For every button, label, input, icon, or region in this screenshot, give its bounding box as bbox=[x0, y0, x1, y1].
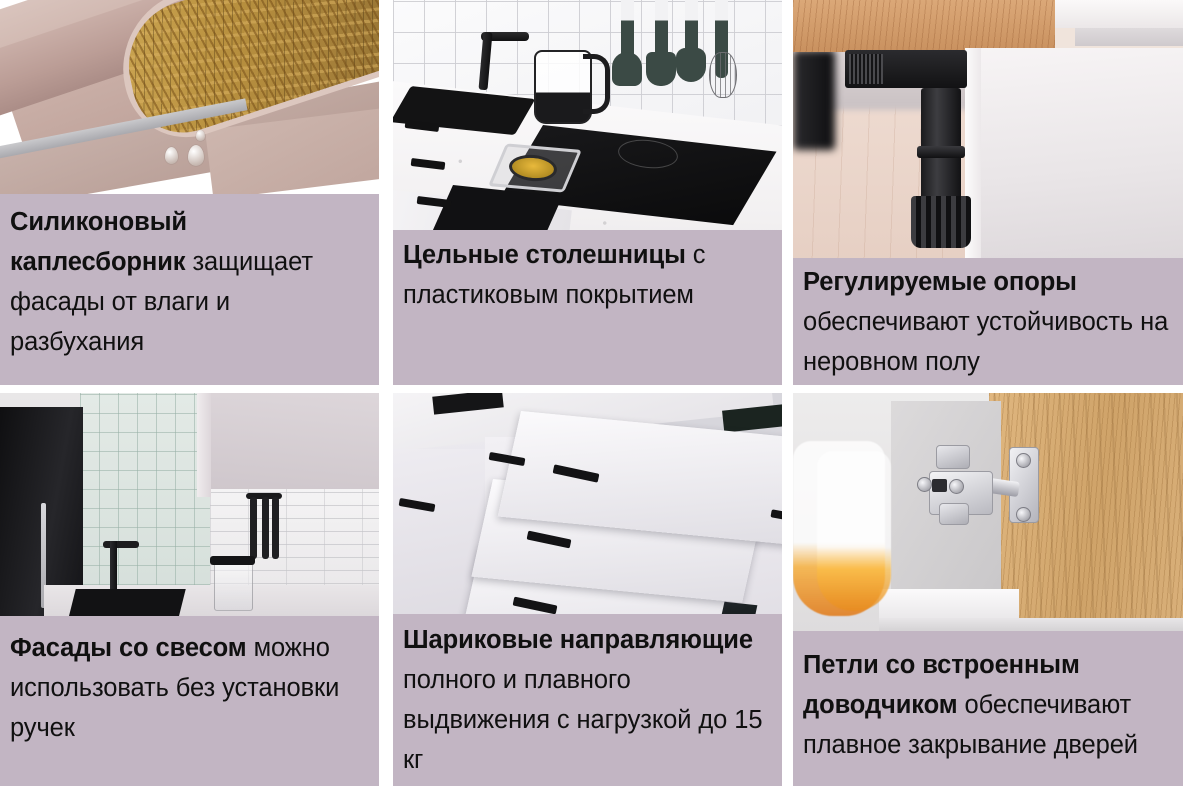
caption-bold-text: Регулируемые опоры bbox=[803, 268, 1077, 296]
feature-card-soft-close-hinges: Петли со встроенным доводчиком обеспечив… bbox=[793, 393, 1183, 786]
caption-bold-text: Шариковые направляющие bbox=[403, 626, 753, 654]
feature-grid: Силиконовый каплесборник защищает фасады… bbox=[0, 0, 1183, 786]
caption-overhang-fronts: Фасады со свесом можно использовать без … bbox=[0, 616, 379, 786]
caption-bold-text: Цельные столешницы bbox=[403, 241, 686, 269]
caption-adjustable-feet: Регулируемые опоры обеспечивают устойчив… bbox=[793, 258, 1183, 385]
caption-silicone-drip-collector: Силиконовый каплесборник защищает фасады… bbox=[0, 194, 379, 385]
caption-solid-countertops: Цельные столешницы с пластиковым покрыти… bbox=[393, 230, 782, 385]
feature-card-silicone-drip-collector: Силиконовый каплесборник защищает фасады… bbox=[0, 0, 379, 385]
feature-card-adjustable-feet: Регулируемые опоры обеспечивают устойчив… bbox=[793, 0, 1183, 385]
caption-soft-close-hinges: Петли со встроенным доводчиком обеспечив… bbox=[793, 631, 1183, 786]
feature-card-solid-countertops: Цельные столешницы с пластиковым покрыти… bbox=[393, 0, 782, 385]
feature-card-overhang-fronts: Фасады со свесом можно использовать без … bbox=[0, 393, 379, 786]
feature-card-ball-bearing-slides: Шариковые направляющие полного и плавног… bbox=[393, 393, 782, 786]
caption-bold-text: Фасады со свесом bbox=[10, 634, 247, 662]
caption-rest-text: обеспечивают устойчивость на неровном по… bbox=[803, 308, 1168, 376]
caption-ball-bearing-slides: Шариковые направляющие полного и плавног… bbox=[393, 614, 782, 786]
caption-rest-text: полного и плавного выдвижения с нагрузко… bbox=[403, 666, 762, 774]
caption-bold-text: Силиконовый каплесборник bbox=[10, 208, 187, 276]
